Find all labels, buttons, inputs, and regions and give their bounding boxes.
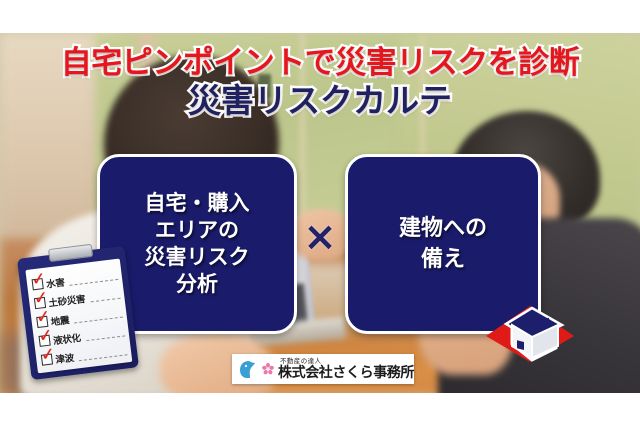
company-logo-bar: 不動産の達人 株式会社さくら事務所 [232, 354, 414, 384]
logo-tagline: 不動産の達人 [280, 358, 414, 365]
check-mark-icon: ✓ [33, 290, 49, 309]
feature-box-left-text: 自宅・購入 エリアの 災害リスク 分析 [139, 190, 256, 298]
checklist-label: 津波 [55, 349, 75, 365]
checklist-label: 土砂災害 [48, 291, 86, 309]
check-mark-icon: ✓ [40, 346, 56, 365]
thumbnail-canvas: 自宅ピンポイントで災害リスクを診断 災害リスクカルテ 自宅・購入 エリアの 災害… [0, 0, 640, 426]
checklist-dash [79, 354, 127, 361]
feature-box-left-line-3: 災害リスク [145, 244, 250, 271]
check-mark-icon: ✓ [38, 327, 54, 346]
logo-text-group: 不動産の達人 株式会社さくら事務所 [278, 358, 414, 380]
feature-box-left-line-2: エリアの [145, 217, 250, 244]
checklist-label: 水害 [45, 274, 65, 290]
logo-company-name: 株式会社さくら事務所 [278, 366, 414, 380]
clipboard-checklist: ✓ 水害 ✓ 土砂災害 ✓ 地震 ✓ [17, 246, 139, 380]
bird-icon [238, 358, 258, 380]
checklist-label: 液状化 [52, 329, 81, 346]
clipboard-paper: ✓ 水害 ✓ 土砂災害 ✓ 地震 ✓ [25, 259, 132, 374]
cherry-blossom-icon [262, 363, 274, 375]
check-mark-icon: ✓ [31, 271, 47, 290]
check-mark-icon: ✓ [35, 308, 51, 327]
feature-box-left-line-4: 分析 [145, 271, 250, 298]
feature-box-right-line-2: 備え [399, 244, 487, 275]
checklist-dash [90, 298, 120, 303]
feature-box-right-line-1: 建物への [399, 213, 487, 244]
checklist-label: 地震 [50, 312, 70, 328]
feature-box-left-line-1: 自宅・購入 [145, 190, 250, 217]
multiply-icon: × [303, 220, 337, 254]
checkbox-icon: ✓ [41, 354, 53, 366]
house-icon [484, 298, 576, 364]
feature-box-right-text: 建物への 備え [393, 213, 493, 275]
